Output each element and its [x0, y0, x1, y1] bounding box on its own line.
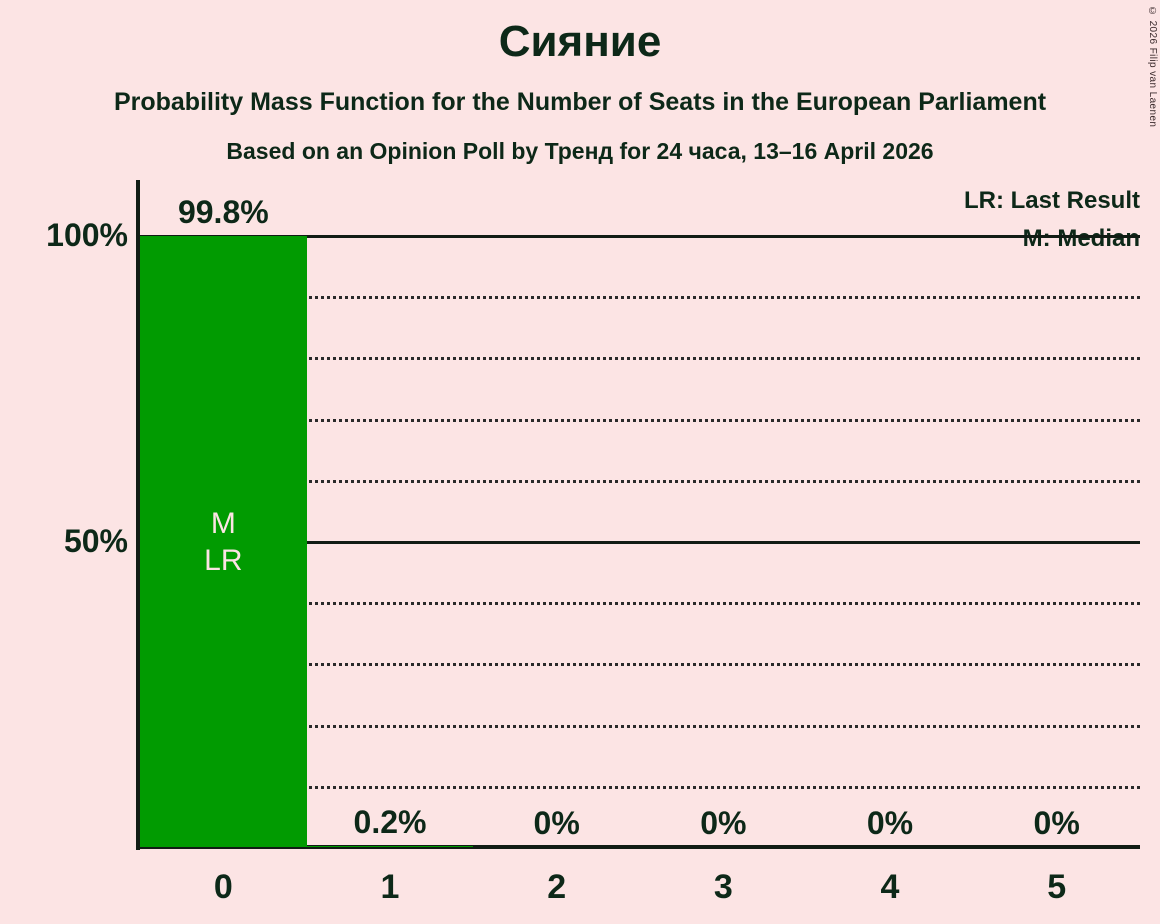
value-label-2: 0% — [473, 803, 640, 843]
bar-1[interactable] — [307, 846, 474, 847]
value-label-3: 0% — [640, 803, 807, 843]
page-title: Сияние — [0, 16, 1160, 68]
chart-subtitle: Probability Mass Function for the Number… — [0, 86, 1160, 118]
value-label-5: 0% — [973, 803, 1140, 843]
x-tick-label-4: 4 — [830, 866, 950, 908]
x-tick-label-5: 5 — [997, 866, 1117, 908]
x-tick-label-2: 2 — [497, 866, 617, 908]
x-tick-label-0: 0 — [163, 866, 283, 908]
bar-0[interactable]: MLR — [140, 236, 307, 847]
y-axis-tick-labels: 100%50% — [0, 0, 128, 924]
chart-source-subtitle: Based on an Opinion Poll by Тренд for 24… — [0, 135, 1160, 167]
bar-marker-lr: LR — [140, 542, 307, 579]
value-label-1: 0.2% — [307, 802, 474, 842]
value-label-0: 99.8% — [140, 192, 307, 232]
legend-item-last-result: LR: Last Result — [964, 182, 1140, 220]
x-tick-label-1: 1 — [330, 866, 450, 908]
bar-marker-m: M — [140, 505, 307, 542]
value-label-4: 0% — [807, 803, 974, 843]
y-tick-label-50: 50% — [8, 522, 128, 560]
x-tick-label-3: 3 — [663, 866, 783, 908]
plot-area: MLR — [140, 235, 1140, 847]
copyright-notice: © 2026 Filip van Laenen — [1147, 6, 1158, 127]
y-tick-label-100: 100% — [8, 216, 128, 254]
